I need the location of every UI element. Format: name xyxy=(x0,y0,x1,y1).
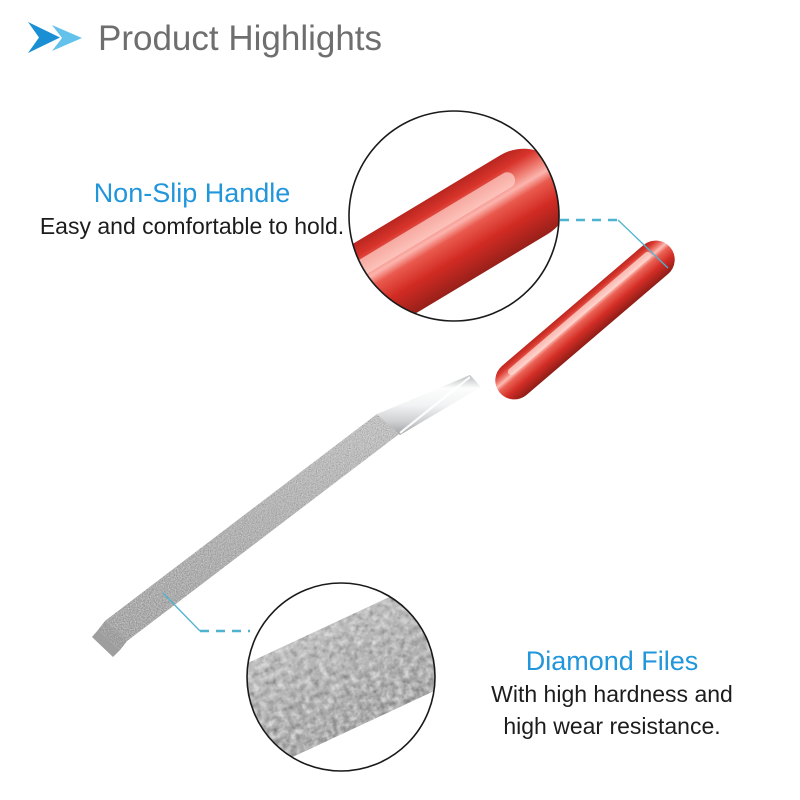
double-chevron-arrow-icon xyxy=(26,18,88,58)
callout-line-diamond-files-0: With high hardness and xyxy=(462,678,762,710)
page-title: Product Highlights xyxy=(98,21,382,56)
file-shank xyxy=(377,375,481,435)
callout-line-non-slip-handle-0: Easy and comfortable to hold. xyxy=(32,210,352,242)
callout-line-diamond-files-1: high wear resistance. xyxy=(462,710,762,742)
callout-title-diamond-files: Diamond Files xyxy=(462,644,762,678)
product-highlights-image: Product Highlights Non-Slip Handle Easy … xyxy=(0,0,800,800)
callout-non-slip-handle: Non-Slip Handle Easy and comfortable to … xyxy=(32,176,352,242)
callout-title-non-slip-handle: Non-Slip Handle xyxy=(32,176,352,210)
callout-diamond-files: Diamond Files With high hardness and hig… xyxy=(462,644,762,742)
page-header: Product Highlights xyxy=(26,18,382,58)
